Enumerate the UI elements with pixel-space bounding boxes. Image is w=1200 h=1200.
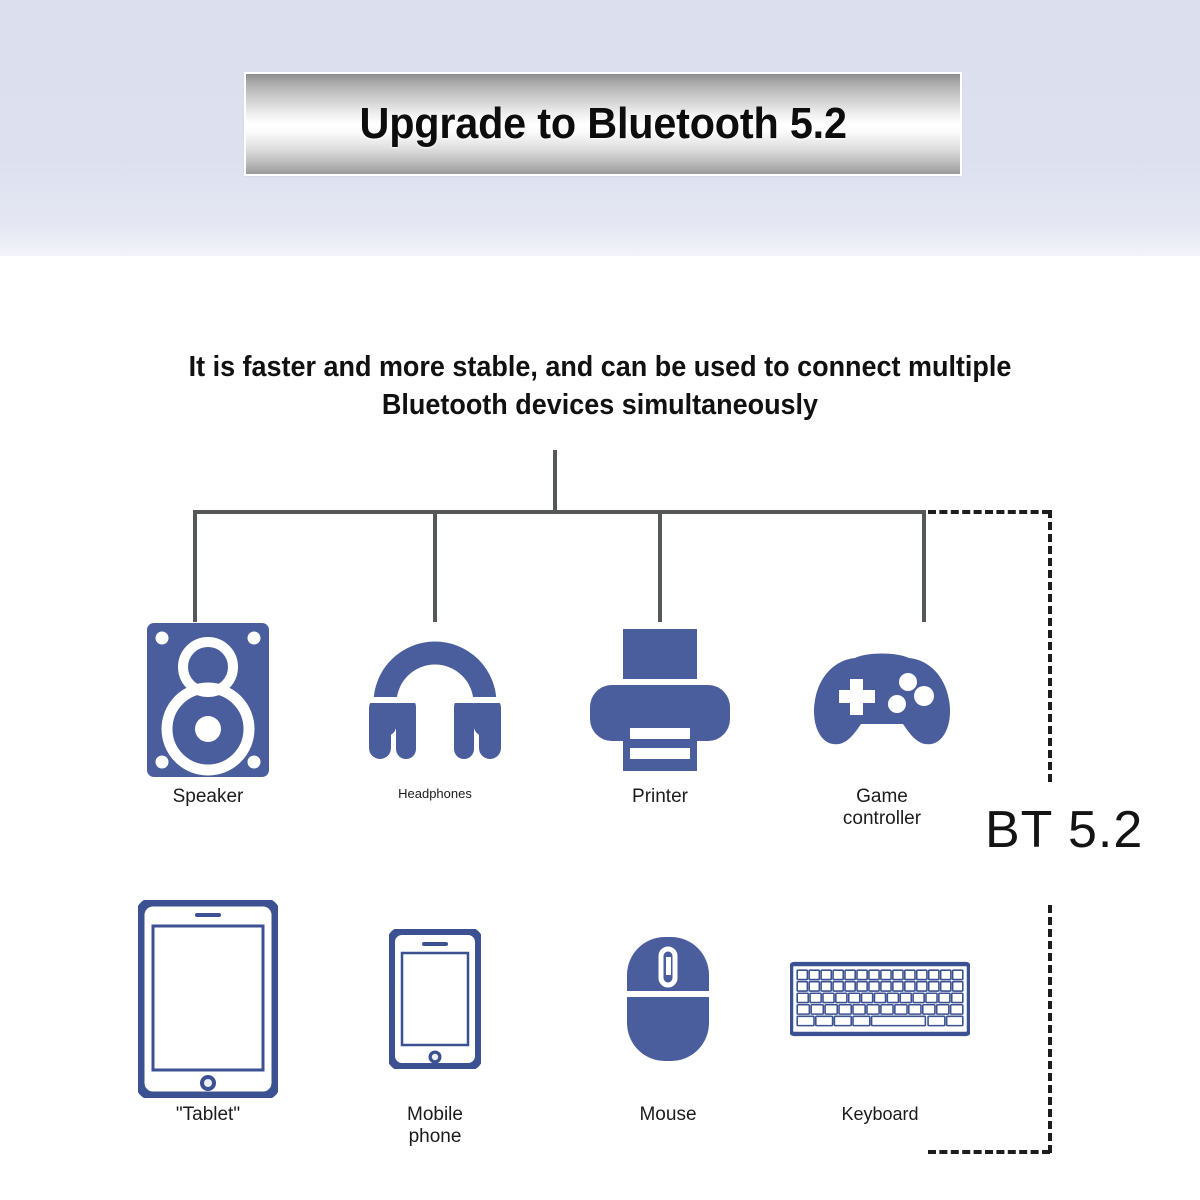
device-label: "Tablet": [118, 1104, 298, 1126]
tree-drop-controller: [922, 510, 926, 622]
mobile-phone-icon: [345, 900, 525, 1098]
device-label: Keyboard: [790, 1104, 970, 1125]
infographic-page: Upgrade to Bluetooth 5.2 It is faster an…: [0, 0, 1200, 1200]
tree-drop-headphones: [433, 510, 437, 622]
tablet-icon: [118, 900, 298, 1098]
connector-diagram: [0, 440, 1200, 600]
device-game-controller[interactable]: Game controller: [792, 620, 972, 831]
headphones-icon: [345, 620, 525, 780]
title-banner: Upgrade to Bluetooth 5.2: [246, 74, 960, 174]
tree-drop-printer: [658, 510, 662, 622]
device-row-2: "Tablet" Mobile phone: [0, 900, 1200, 1150]
tree-stem: [553, 450, 557, 512]
device-mouse[interactable]: Mouse: [578, 900, 758, 1126]
game-controller-icon: [792, 620, 972, 780]
device-label: Game controller: [792, 786, 972, 831]
device-label: Headphones: [345, 786, 525, 801]
device-speaker[interactable]: Speaker: [118, 620, 298, 808]
dashed-top-segment: [928, 510, 1050, 514]
speaker-icon: [118, 620, 298, 780]
device-keyboard[interactable]: Keyboard: [790, 900, 970, 1125]
device-headphones[interactable]: Headphones: [345, 620, 525, 801]
device-printer[interactable]: Printer: [570, 620, 750, 808]
keyboard-icon: [790, 900, 970, 1098]
device-row-1: Speaker Headphones: [0, 620, 1200, 860]
tree-drop-speaker: [193, 510, 197, 622]
subtitle: It is faster and more stable, and can be…: [42, 348, 1158, 424]
subtitle-line-1: It is faster and more stable, and can be…: [42, 348, 1158, 386]
page-title: Upgrade to Bluetooth 5.2: [359, 99, 846, 149]
device-mobile-phone[interactable]: Mobile phone: [345, 900, 525, 1149]
tree-bus: [193, 510, 926, 514]
device-tablet[interactable]: "Tablet": [118, 900, 298, 1126]
printer-icon: [570, 620, 750, 780]
device-label: Mouse: [578, 1104, 758, 1126]
subtitle-line-2: Bluetooth devices simultaneously: [42, 386, 1158, 424]
device-label: Speaker: [118, 786, 298, 808]
dashed-bottom-segment: [928, 1150, 1050, 1154]
device-label: Printer: [570, 786, 750, 808]
header-band: Upgrade to Bluetooth 5.2: [0, 0, 1200, 256]
device-label: Mobile phone: [345, 1104, 525, 1149]
mouse-icon: [578, 900, 758, 1098]
